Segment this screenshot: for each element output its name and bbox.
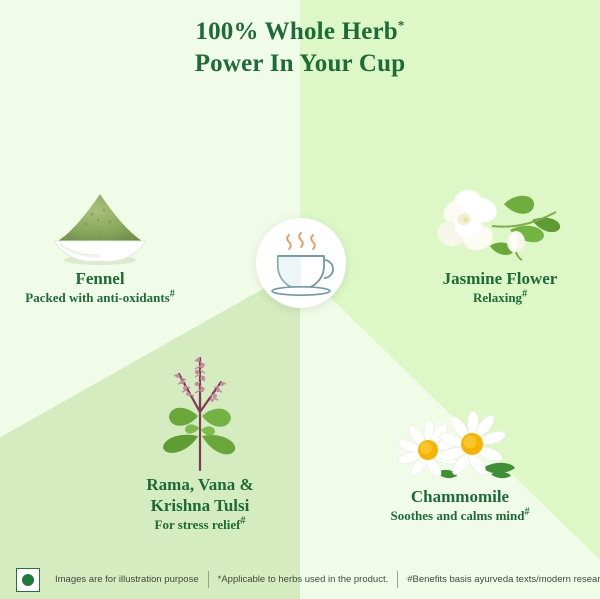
tulsi-plant-image <box>135 340 265 474</box>
herb-benefit-chamomile: Soothes and calms mind# <box>360 507 560 524</box>
footer-note-illustration: Images are for illustration purpose <box>46 574 208 585</box>
vegetarian-mark-icon <box>16 568 40 592</box>
footer: Images are for illustration purpose *App… <box>0 560 600 599</box>
chamomile-flower-image <box>395 410 525 486</box>
herb-benefit-chamomile-text: Soothes and calms mind <box>391 508 525 523</box>
herb-title-fennel: Fennel <box>0 268 200 289</box>
herb-benefit-tulsi-text: For stress relief <box>155 517 241 532</box>
page-title: 100% Whole Herb* Power In Your Cup <box>0 16 600 80</box>
hash-mark: # <box>525 507 530 518</box>
herb-benefit-jasmine-text: Relaxing <box>473 290 522 305</box>
jasmine-leaves <box>490 196 560 255</box>
tea-cup-badge <box>256 218 346 308</box>
jasmine-bud <box>507 231 525 260</box>
herb-benefit-fennel-text: Packed with anti-oxidants <box>25 290 169 305</box>
herb-benefit-tulsi: For stress relief# <box>100 516 300 533</box>
herb-card-chamomile: Chammomile Soothes and calms mind# <box>360 410 560 524</box>
herb-title-jasmine: Jasmine Flower <box>400 268 600 289</box>
herb-card-jasmine: Jasmine Flower Relaxing# <box>400 186 600 306</box>
herb-benefit-jasmine: Relaxing# <box>400 289 600 306</box>
hash-mark: # <box>522 289 527 300</box>
jasmine-blossom <box>435 190 500 254</box>
hash-mark: # <box>240 516 245 527</box>
herb-title-chamomile: Chammomile <box>360 486 560 507</box>
footer-note-applicable: *Applicable to herbs used in the product… <box>209 574 398 585</box>
herb-card-tulsi: Rama, Vana & Krishna Tulsi For stress re… <box>100 340 300 533</box>
tea-cup-icon <box>256 218 346 308</box>
promo-poster: 100% Whole Herb* Power In Your Cup <box>0 0 600 599</box>
herb-card-fennel: Fennel Packed with anti-oxidants# <box>0 186 200 306</box>
vegetarian-dot <box>22 574 34 586</box>
herb-benefit-fennel: Packed with anti-oxidants# <box>0 289 200 306</box>
hash-mark: # <box>170 289 175 300</box>
herb-title-tulsi-line-1: Rama, Vana & <box>100 474 300 495</box>
page-title-line-1: 100% Whole Herb* <box>0 16 600 48</box>
asterisk-mark: * <box>398 18 405 33</box>
page-title-line-2: Power In Your Cup <box>0 48 600 80</box>
jasmine-flower-image <box>430 186 570 268</box>
footer-note-benefits: #Benefits basis ayurveda texts/modern re… <box>398 574 600 585</box>
herb-title-tulsi-line-2: Krishna Tulsi <box>100 495 300 516</box>
page-title-line-1-text: 100% Whole Herb <box>195 18 398 45</box>
fennel-bowl-image <box>36 186 164 268</box>
